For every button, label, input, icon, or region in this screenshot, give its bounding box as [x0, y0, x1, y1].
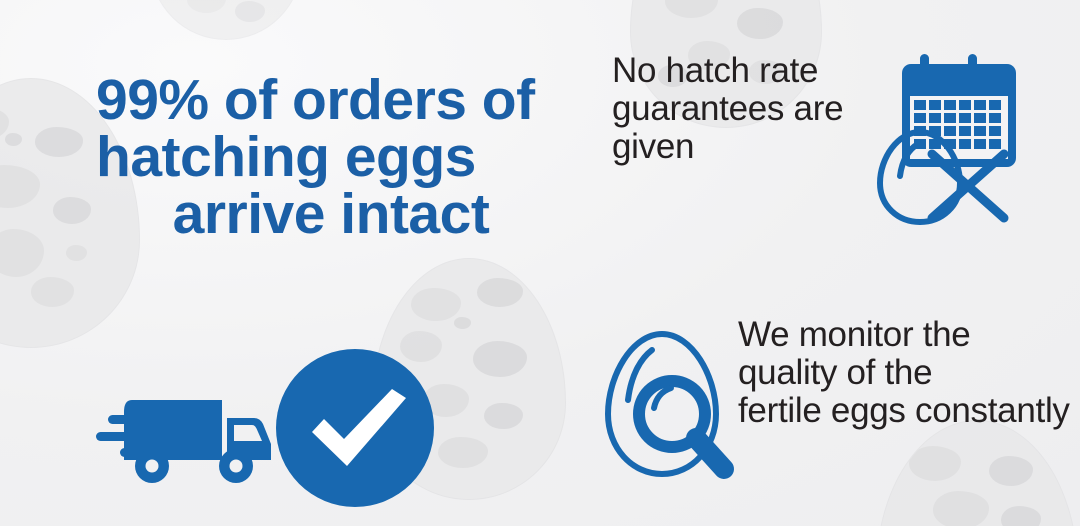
- claim-1-line-3: fertile eggs constantly: [738, 392, 1070, 430]
- headline-line-1: 99% of orders of: [96, 72, 566, 129]
- headline-line-3: arrive intact: [96, 186, 566, 243]
- claim-0-line-3: given: [612, 128, 843, 166]
- claim-1-line-2: quality of the: [738, 354, 1070, 392]
- infographic-canvas: 99% of orders of hatching eggs arrive in…: [0, 0, 1080, 526]
- claim-0-line-1: No hatch rate: [612, 52, 843, 90]
- egg-magnifier-icon: [600, 328, 740, 486]
- delivery-truck-icon: [94, 382, 274, 486]
- claim-0-line-2: guarantees are: [612, 90, 843, 128]
- claim-1-line-1: We monitor the: [738, 316, 1070, 354]
- headline-line-2: hatching eggs: [96, 129, 566, 186]
- calendar-egg-crossed-icon: [876, 50, 1018, 240]
- egg-watermark-bottom-right: [876, 420, 1078, 526]
- headline: 99% of orders of hatching eggs arrive in…: [96, 72, 566, 243]
- claim-no-hatch-rate-text: No hatch rate guarantees are given: [612, 52, 843, 165]
- check-circle-icon: [276, 349, 434, 507]
- claim-quality-monitoring-text: We monitor the quality of the fertile eg…: [738, 316, 1070, 429]
- egg-watermark-top-left-small: [150, 0, 302, 40]
